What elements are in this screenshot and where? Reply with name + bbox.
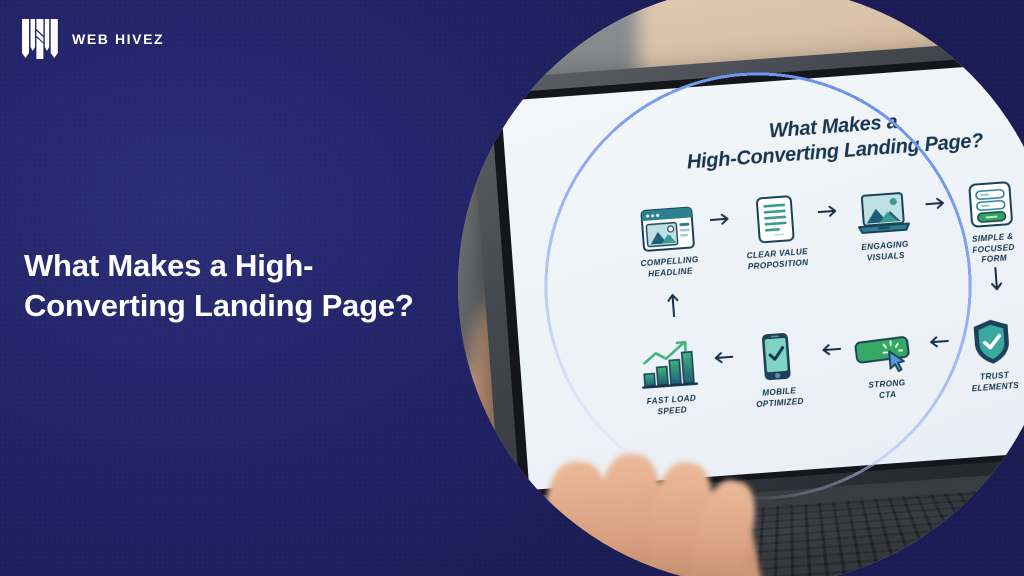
brand-logo[interactable]: WEB HIVEZ	[20, 17, 164, 61]
hand-typing-icon	[498, 441, 821, 576]
step-label: COMPELLING HEADLINE	[640, 255, 699, 280]
brand-name: WEB HIVEZ	[72, 31, 164, 47]
slide-canvas: WEB HIVEZ What Makes a High- Converting …	[0, 0, 1024, 576]
cta-button-cursor-icon	[851, 316, 917, 376]
laptop-image-icon	[852, 178, 912, 238]
arrow-right-icon	[919, 175, 953, 233]
arrow-up-icon	[633, 288, 713, 320]
step-engaging-visuals: ENGAGING VISUALS	[841, 177, 925, 265]
step-label: SIMPLE & FOCUSED FORM	[954, 231, 1024, 268]
step-strong-cta: STRONG CTA	[843, 315, 927, 403]
hero-photo-circle: What Makes a High-Converting Landing Pag…	[458, 0, 1024, 576]
step-label: FAST LOAD SPEED	[646, 394, 697, 419]
bar-chart-growth-icon	[637, 332, 701, 392]
step-label: TRUST ELEMENTS	[971, 370, 1020, 394]
document-text-lines-icon	[753, 186, 797, 245]
step-label: ENGAGING VISUALS	[861, 240, 910, 264]
slide-title: What Makes a High-Converting Landing Pag…	[533, 97, 1024, 186]
headline-line-2: Converting Landing Page?	[24, 288, 414, 323]
step-label: MOBILE OPTIMIZED	[755, 386, 804, 410]
infographic-slide: What Makes a High-Converting Landing Pag…	[500, 57, 1024, 490]
step-clear-value-proposition: CLEAR VALUE PROPOSITION	[734, 185, 818, 273]
step-trust-elements: TRUST ELEMENTS	[951, 307, 1024, 395]
shield-check-icon	[969, 309, 1015, 368]
webhivez-h-monogram-icon	[20, 17, 60, 61]
browser-window-hero-icon	[638, 194, 696, 254]
step-mobile-optimized: MOBILE OPTIMIZED	[735, 323, 819, 411]
hero-photo: What Makes a High-Converting Landing Pag…	[458, 0, 1024, 576]
step-fast-load-speed: FAST LOAD SPEED	[628, 331, 712, 419]
form-fields-button-icon	[966, 170, 1014, 229]
page-title: What Makes a High- Converting Landing Pa…	[24, 246, 444, 327]
laptop-screen: What Makes a High-Converting Landing Pag…	[500, 57, 1024, 490]
laptop-bezel: What Makes a High-Converting Landing Pag…	[490, 48, 1024, 497]
step-label: CLEAR VALUE PROPOSITION	[746, 247, 809, 272]
arrow-left-icon	[706, 329, 740, 387]
step-compelling-headline: COMPELLING HEADLINE	[626, 193, 710, 281]
arrow-right-icon	[704, 191, 738, 249]
arrow-left-icon	[921, 313, 955, 371]
arrow-right-icon	[811, 183, 845, 241]
step-simple-focused-form: SIMPLE & FOCUSED FORM	[949, 169, 1024, 268]
mobile-phone-check-icon	[758, 325, 794, 383]
laptop-lid: What Makes a High-Converting Landing Pag…	[470, 33, 1024, 511]
arrow-down-icon	[956, 264, 1024, 296]
step-label: STRONG CTA	[868, 378, 907, 402]
laptop-icon: What Makes a High-Converting Landing Pag…	[458, 0, 1024, 576]
headline-line-1: What Makes a High-	[24, 248, 313, 283]
arrow-left-icon	[813, 321, 847, 379]
